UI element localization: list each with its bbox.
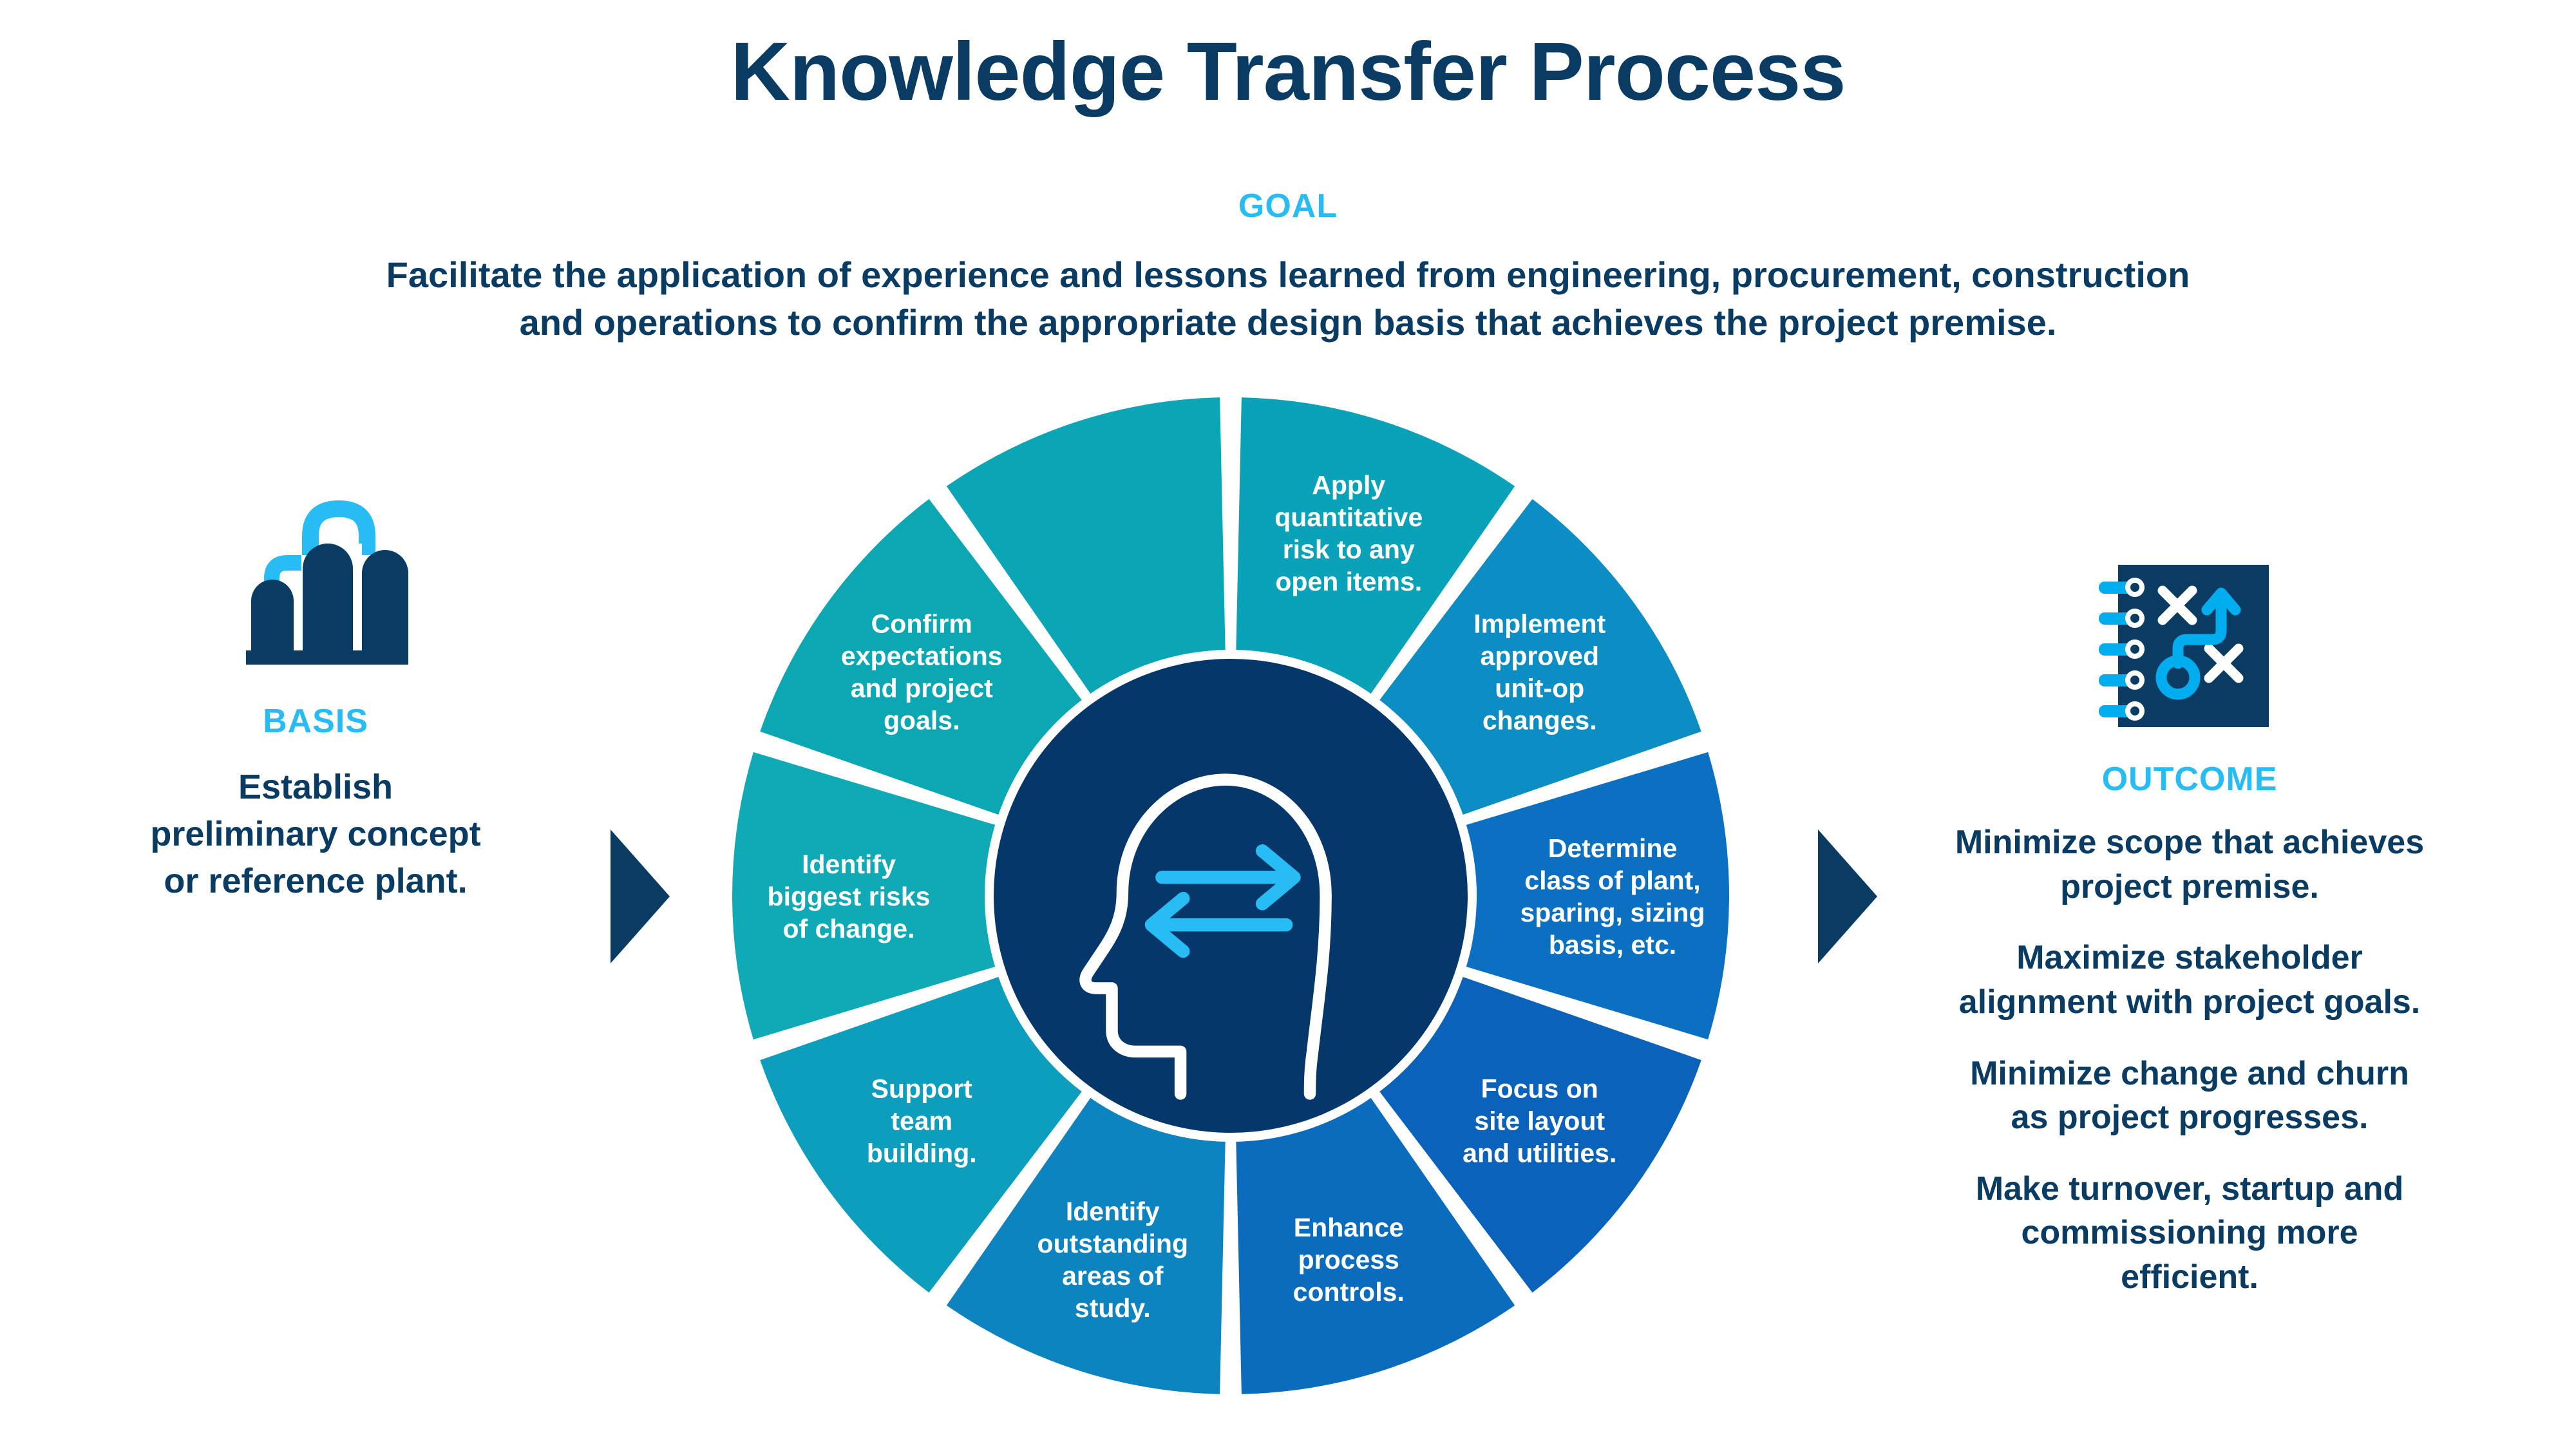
goal-description: Facilitate the application of experience… — [0, 251, 2576, 346]
process-wheel: Applyquantitativerisk to anyopen items.I… — [732, 397, 1729, 1394]
goal-line-2: and operations to confirm the appropriat… — [0, 299, 2576, 346]
outcome-item: Minimize change and churn as project pro… — [1848, 1052, 2531, 1140]
outcome-line: alignment with project goals. — [1848, 980, 2531, 1025]
goal-line-1: Facilitate the application of experience… — [0, 251, 2576, 299]
outcome-item: Minimize scope that achieves project pre… — [1848, 820, 2531, 909]
basis-line-3: or reference plant. — [77, 858, 554, 905]
outcome-line: Maximize stakeholder — [1848, 936, 2531, 980]
basis-line-1: Establish — [77, 764, 554, 811]
outcome-item: Make turnover, startup and commissioning… — [1848, 1167, 2531, 1300]
flow-arrow-basis-to-wheel — [605, 826, 676, 967]
wheel-segment-label: Focus onsite layoutand utilities. — [1463, 1074, 1616, 1168]
infographic-canvas: Knowledge Transfer Process GOAL Facilita… — [0, 0, 2576, 1449]
outcome-line: commissioning more — [1848, 1211, 2531, 1255]
outcome-line: efficient. — [1848, 1255, 2531, 1300]
page-title: Knowledge Transfer Process — [0, 27, 2576, 118]
outcome-line: as project progresses. — [1848, 1095, 2531, 1140]
basis-line-2: preliminary concept — [77, 811, 554, 858]
wheel-segment-label: Enhanceprocesscontrols. — [1293, 1213, 1405, 1307]
outcome-line: project premise. — [1848, 865, 2531, 909]
outcome-block: OUTCOME Minimize scope that achieves pro… — [1848, 760, 2531, 1327]
basis-description: Establish preliminary concept or referen… — [77, 764, 554, 905]
outcome-line: Minimize scope that achieves — [1848, 820, 2531, 865]
outcome-item: Maximize stakeholder alignment with proj… — [1848, 936, 2531, 1024]
outcome-line: Minimize change and churn — [1848, 1052, 2531, 1096]
strategy-playbook-icon — [2090, 551, 2283, 744]
outcome-line: Make turnover, startup and — [1848, 1167, 2531, 1211]
industrial-plant-icon — [213, 496, 419, 676]
outcome-label: OUTCOME — [1848, 760, 2531, 799]
basis-block: BASIS Establish preliminary concept or r… — [77, 496, 554, 905]
goal-label: GOAL — [0, 187, 2576, 225]
basis-label: BASIS — [77, 702, 554, 741]
core-circle — [994, 659, 1468, 1133]
